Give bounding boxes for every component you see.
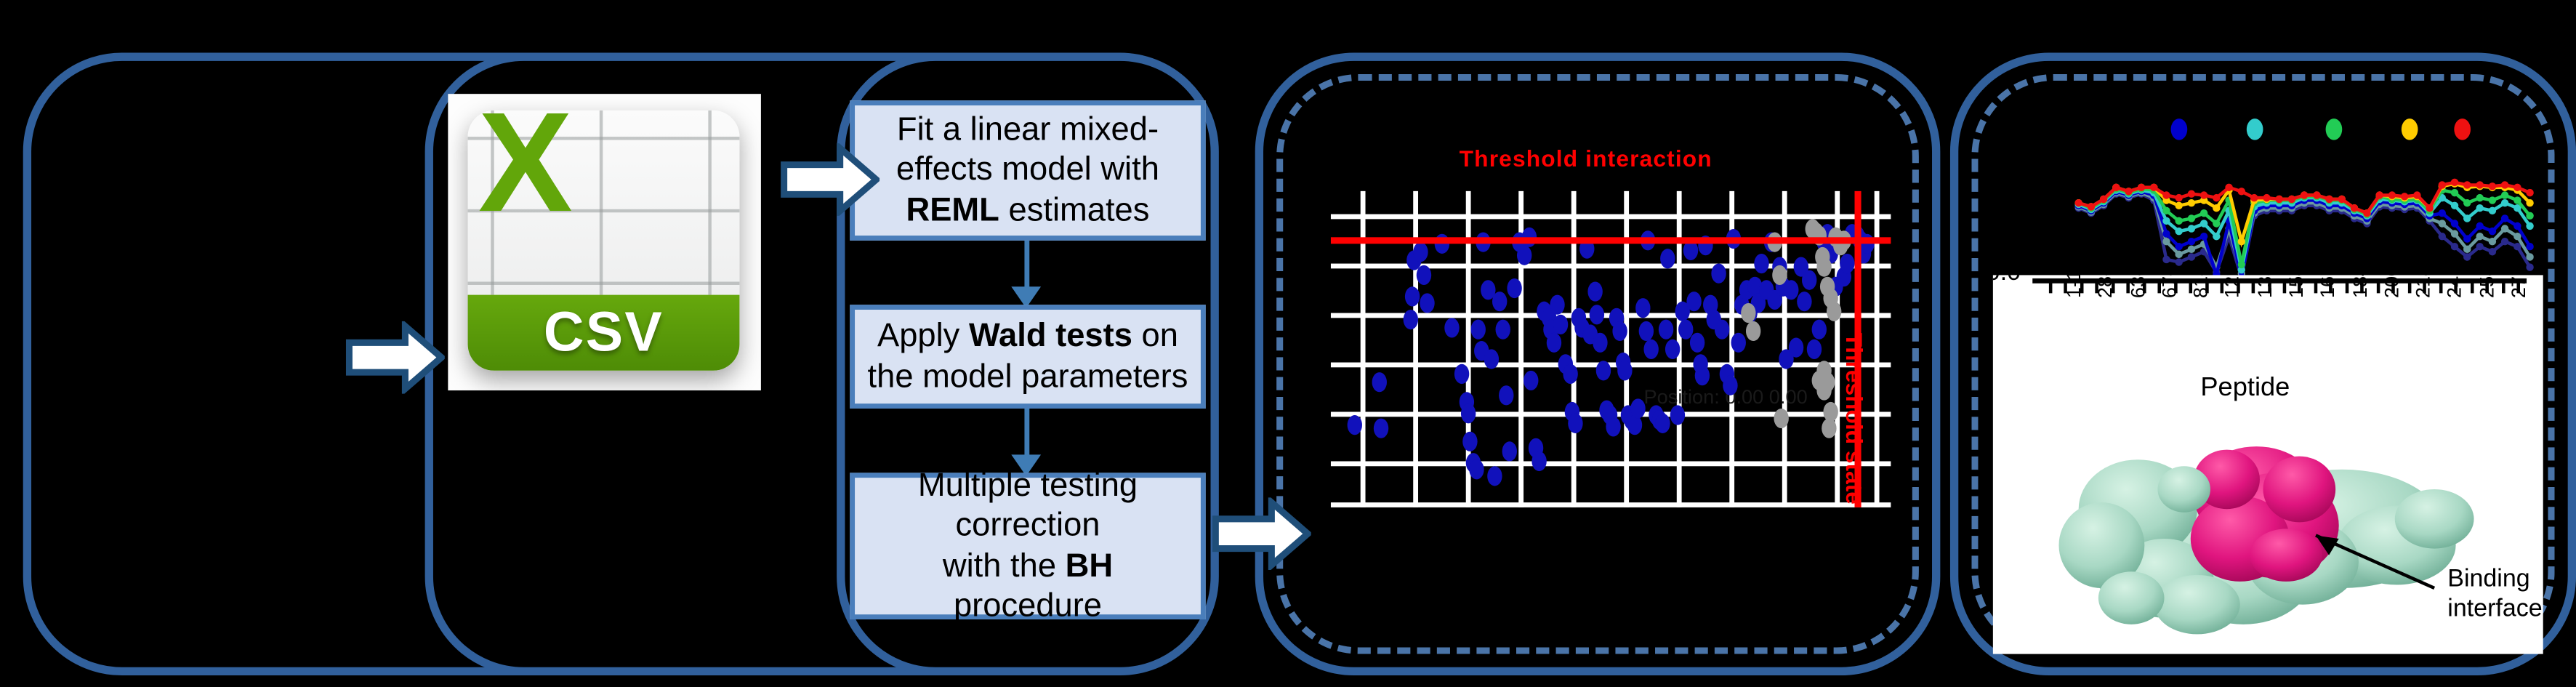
x-axis-tick-label: 81-101 (2189, 275, 2213, 298)
scatter-point (1488, 465, 1502, 485)
threshold-state-label: Threshold state (1841, 333, 1867, 505)
scatter-point (1630, 399, 1644, 419)
scatter-point (1374, 419, 1388, 438)
binding-interface-line1: Binding (2447, 565, 2542, 594)
line-marker (2162, 256, 2170, 263)
line-marker (2313, 191, 2320, 198)
line-marker (2200, 191, 2207, 198)
scatter-point (1347, 414, 1361, 434)
y-zero-label: 0.0 (1993, 275, 2021, 286)
line-marker (2463, 199, 2471, 206)
line-marker (2213, 233, 2220, 240)
step2-bold: Wald tests (969, 318, 1132, 355)
line-marker (2188, 253, 2195, 260)
scatter-point (1507, 278, 1521, 297)
connector-2 (1024, 409, 1029, 462)
x-axis-tick (2376, 281, 2380, 293)
step3-line2: correction (955, 507, 1100, 544)
line-marker (2451, 189, 2458, 196)
connector-1 (1024, 241, 1029, 294)
line-marker (2175, 217, 2182, 225)
scatter-point (1817, 257, 1832, 277)
step2-pre: Apply (877, 318, 969, 355)
scatter-point (1654, 413, 1669, 433)
line-marker (2175, 194, 2182, 201)
line-marker (2526, 189, 2533, 196)
line-marker (2150, 184, 2157, 191)
line-marker (2489, 228, 2496, 235)
x-axis-tick-label: 277-284 (2507, 275, 2530, 298)
line-marker (2463, 246, 2471, 253)
scatter-point (1562, 365, 1577, 385)
line-marker (2439, 209, 2446, 217)
scatter-point (1710, 263, 1725, 283)
scatter-plot: Threshold interaction Position: 0.00 0.0… (1318, 148, 1904, 527)
binding-interface-annotation: Binding interface (2447, 565, 2542, 623)
scatter-point (1524, 371, 1538, 390)
line-marker (2238, 238, 2245, 245)
line-marker (2476, 194, 2483, 201)
line-marker (2238, 188, 2245, 195)
line-marker (2188, 199, 2195, 206)
line-marker (2213, 194, 2220, 201)
line-marker (2162, 191, 2170, 198)
scatter-point (1517, 246, 1531, 265)
scatter-point (1772, 265, 1787, 285)
line-marker (2200, 233, 2207, 240)
scatter-point (1495, 321, 1510, 340)
step1-post: estimates (999, 192, 1150, 228)
line-marker (2275, 196, 2282, 203)
line-marker (2238, 261, 2245, 268)
line-marker (2401, 193, 2408, 200)
binding-interface-line2: interface (2447, 594, 2542, 623)
step-wald-tests-box[interactable]: Apply Wald tests on the model parameters (850, 305, 1205, 409)
line-marker (2175, 258, 2182, 265)
scatter-point (1816, 380, 1830, 400)
scatter-point (1444, 317, 1459, 337)
threshold-interaction-line (1331, 237, 1891, 244)
step-multiple-testing-box[interactable]: Multiple testing correction with the BH … (850, 473, 1205, 619)
line-marker (2200, 209, 2207, 217)
line-marker (2088, 203, 2095, 210)
step3-post: procedure (954, 588, 1102, 624)
x-axis-tick (2407, 281, 2411, 293)
step1-bold: REML (906, 192, 999, 228)
x-axis-tick-label: 241-257 (2443, 275, 2466, 298)
line-marker (2451, 202, 2458, 209)
scatter-point (1618, 361, 1633, 380)
scatter-point (1723, 375, 1737, 395)
arrow-model-to-results (1212, 497, 1311, 570)
line-marker (2513, 233, 2521, 240)
line-marker (2501, 214, 2508, 222)
peptide-line-chart (2036, 116, 2563, 289)
x-axis-tick-label: 158-166 (2285, 275, 2308, 298)
line-marker (2476, 181, 2483, 188)
threshold-interaction-label: Threshold interaction (1460, 145, 1712, 171)
scatter-point (1596, 361, 1611, 380)
workflow-diagram: X CSV Fit a linear mixed- effects model … (0, 0, 2576, 687)
scatter-point (1811, 321, 1826, 340)
line-marker (2526, 222, 2533, 230)
line-marker (2213, 220, 2220, 227)
line-marker (2188, 246, 2195, 253)
scatter-point (1774, 409, 1788, 428)
line-marker (2250, 194, 2258, 201)
line-marker (2363, 209, 2370, 217)
line-marker (2513, 243, 2521, 250)
line-marker (2225, 184, 2232, 191)
scatter-point (1645, 340, 1659, 359)
scatter-point (1798, 292, 1812, 312)
scatter-point (1420, 292, 1435, 312)
line-marker (2451, 230, 2458, 237)
x-axis-tick-label: 218-237 (2412, 275, 2435, 298)
line-marker (2351, 204, 2358, 212)
line-marker (2388, 191, 2396, 198)
line-marker (2451, 179, 2458, 186)
x-axis-tick (2439, 281, 2442, 293)
line-marker (2526, 263, 2533, 270)
line-marker (2288, 196, 2295, 203)
step3-line1: Multiple testing (918, 467, 1138, 504)
excel-x-icon: X (475, 111, 576, 199)
line-marker (2489, 196, 2496, 204)
line-marker (2375, 191, 2383, 198)
line-marker (2125, 188, 2132, 195)
line-marker (2451, 243, 2458, 250)
line-marker (2526, 253, 2533, 260)
line-marker (2476, 243, 2483, 250)
line-marker (2501, 225, 2508, 232)
scatter-point (1755, 254, 1769, 273)
arrow-csv-to-model (781, 143, 880, 216)
x-axis-tick-label: 167-180 (2317, 275, 2340, 298)
line-marker (2489, 248, 2496, 255)
line-marker (2162, 238, 2170, 245)
line-marker (2463, 253, 2471, 260)
line-marker (2501, 191, 2508, 198)
scatter-point (1372, 371, 1386, 391)
line-marker (2112, 184, 2120, 191)
line-marker (2413, 191, 2420, 198)
x-axis-tick (2345, 281, 2348, 293)
scatter-point (1826, 302, 1840, 321)
line-marker (2463, 181, 2471, 188)
scatter-point (1414, 243, 1428, 262)
x-axis-tick-label: 67-75 (2157, 275, 2181, 298)
line-marker (2162, 217, 2170, 225)
scatter-point (1660, 248, 1675, 268)
scatter-point (1658, 321, 1673, 340)
line-marker (2439, 181, 2446, 188)
line-marker (2476, 222, 2483, 230)
scatter-point (1689, 333, 1704, 353)
line-marker (2501, 238, 2508, 245)
line-marker (2138, 184, 2145, 191)
scatter-point (1460, 403, 1475, 423)
line-marker (2526, 199, 2533, 206)
line-marker (2513, 196, 2521, 204)
step1-line1: Fit a linear mixed- (897, 112, 1159, 148)
line-marker (2526, 212, 2533, 220)
arrow-input-to-csv (346, 321, 445, 394)
scatter-point (1715, 321, 1730, 340)
scatter-point (1471, 321, 1486, 340)
scatter-point (1590, 305, 1604, 324)
step2-post: on (1132, 318, 1178, 355)
scatter-point (1635, 298, 1650, 318)
x-axis-tick-label: 184-199 (2348, 275, 2371, 298)
x-axis-tick-label: 122-129 (2221, 275, 2245, 298)
scatter-grid: Position: 0.00 0.00 (1331, 191, 1891, 507)
csv-label-band: CSV (468, 295, 740, 371)
step3-bold: BH (1066, 547, 1113, 584)
scatter-point (1822, 419, 1836, 438)
line-marker (2100, 196, 2107, 203)
step1-line2: effects model with (896, 152, 1159, 188)
line-marker (2263, 194, 2270, 201)
line-marker (2476, 233, 2483, 240)
x-axis-tick-label: 135-144 (2253, 275, 2276, 298)
line-series-svg (2036, 116, 2563, 289)
line-marker (2426, 204, 2433, 212)
x-axis-tick-label: 258-266 (2475, 275, 2498, 298)
line-marker (2439, 220, 2446, 227)
line-marker (2463, 235, 2471, 242)
x-axis-tick (2470, 281, 2474, 293)
scatter-point (1550, 295, 1565, 315)
line-marker (2325, 196, 2333, 203)
line-marker (2175, 251, 2182, 258)
line-marker (2338, 196, 2346, 203)
line-marker (2301, 191, 2308, 198)
line-marker (2439, 233, 2446, 240)
csv-file-card: X CSV (448, 94, 761, 390)
scatter-point (1801, 270, 1816, 289)
line-marker (2489, 182, 2496, 190)
csv-file-icon: X CSV (468, 111, 740, 371)
line-marker (2175, 202, 2182, 209)
scatter-point (1789, 338, 1803, 358)
peptide-report-panel: 1-1528-4463-7367-7581-101122-129135-1441… (1993, 275, 2543, 654)
x-axis-tick (2501, 281, 2505, 293)
scatter-point (1403, 309, 1417, 329)
step3-pre: with the (943, 547, 1066, 584)
line-marker (2188, 238, 2195, 245)
x-axis-tick-label: 28-44 (2094, 275, 2117, 298)
scatter-point (1840, 254, 1855, 273)
x-axis-tick-label: 200-214 (2380, 275, 2403, 298)
scatter-point (1547, 333, 1561, 353)
line-marker (2476, 204, 2483, 212)
line-marker (2501, 199, 2508, 206)
line-marker (2489, 207, 2496, 214)
scatter-point (1499, 385, 1513, 405)
line-marker (2188, 190, 2195, 197)
step2-line2: the model parameters (868, 358, 1188, 395)
line-marker (2489, 238, 2496, 245)
scatter-point (1462, 432, 1477, 451)
line-marker (2513, 184, 2521, 191)
scatter-point (1417, 265, 1431, 285)
line-marker (2451, 220, 2458, 227)
scatter-point (1492, 291, 1507, 310)
line-marker (2501, 181, 2508, 188)
line-marker (2162, 207, 2170, 214)
scatter-point (1593, 333, 1608, 353)
line-marker (2188, 214, 2195, 222)
line-marker (2463, 214, 2471, 222)
scatter-point (1745, 322, 1760, 342)
scatter-point (1469, 459, 1484, 479)
scatter-point (1696, 365, 1710, 385)
x-axis-tick-label: 1-15 (2062, 275, 2085, 298)
line-marker (2175, 228, 2182, 235)
scatter-point (1532, 451, 1547, 470)
line-marker (2200, 220, 2207, 227)
line-marker (2162, 230, 2170, 237)
step-fit-model-box[interactable]: Fit a linear mixed- effects model with R… (850, 100, 1205, 241)
scatter-point (1670, 406, 1685, 425)
scatter-point (1484, 349, 1498, 369)
x-axis-tick (2049, 281, 2053, 293)
line-marker (2526, 243, 2533, 250)
scatter-point (1502, 442, 1517, 462)
line-marker (2175, 243, 2182, 250)
scatter-point (1807, 340, 1822, 359)
line-marker (2213, 204, 2220, 212)
line-marker (2074, 199, 2082, 206)
line-marker (2513, 222, 2521, 230)
x-axis-tick-label: 63-73 (2125, 275, 2149, 298)
scatter-point (1606, 417, 1620, 437)
scatter-point (1687, 292, 1702, 312)
scatter-point (1587, 282, 1602, 302)
line-marker (2188, 225, 2195, 232)
csv-label: CSV (468, 295, 740, 371)
